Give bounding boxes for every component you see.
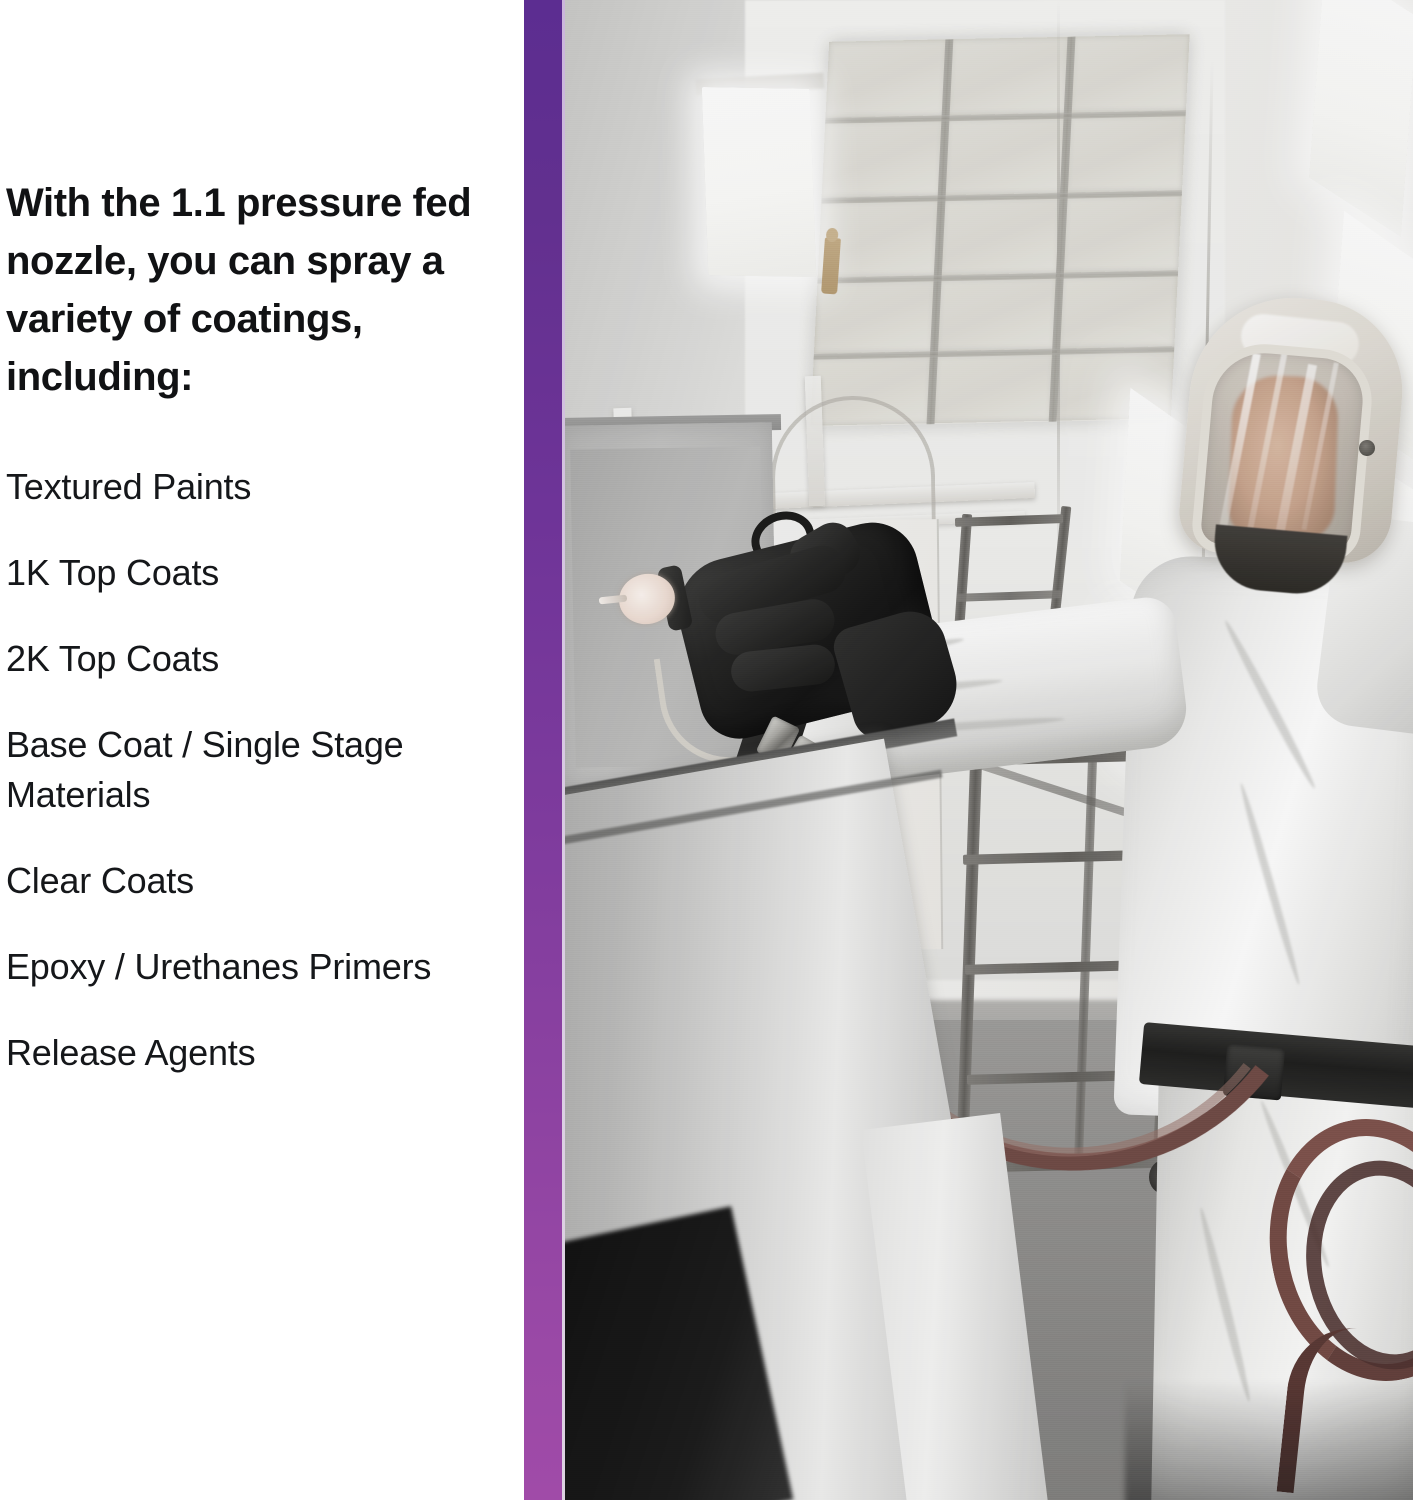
spray-booth-photo [565, 0, 1413, 1500]
list-item: 1K Top Coats [6, 548, 476, 598]
foreground-vignette [1125, 1380, 1413, 1500]
list-item: Textured Paints [6, 462, 476, 512]
page-title: With the 1.1 pressure fed nozzle, you ca… [6, 174, 486, 406]
ceiling-filter-grid [810, 34, 1189, 426]
list-item: Release Agents [6, 1028, 476, 1078]
text-panel: With the 1.1 pressure fed nozzle, you ca… [0, 0, 524, 1500]
list-item: Clear Coats [6, 856, 476, 906]
list-item: Base Coat / Single Stage Materials [6, 720, 476, 820]
list-item: Epoxy / Urethanes Primers [6, 942, 476, 992]
product-feature-slide: With the 1.1 pressure fed nozzle, you ca… [0, 0, 1413, 1500]
list-item: 2K Top Coats [6, 634, 476, 684]
wall-seam [1057, 0, 1060, 560]
coatings-list: Textured Paints 1K Top Coats 2K Top Coat… [6, 462, 476, 1078]
ceiling-light-panel [702, 87, 816, 277]
purple-gradient-divider [524, 0, 562, 1500]
